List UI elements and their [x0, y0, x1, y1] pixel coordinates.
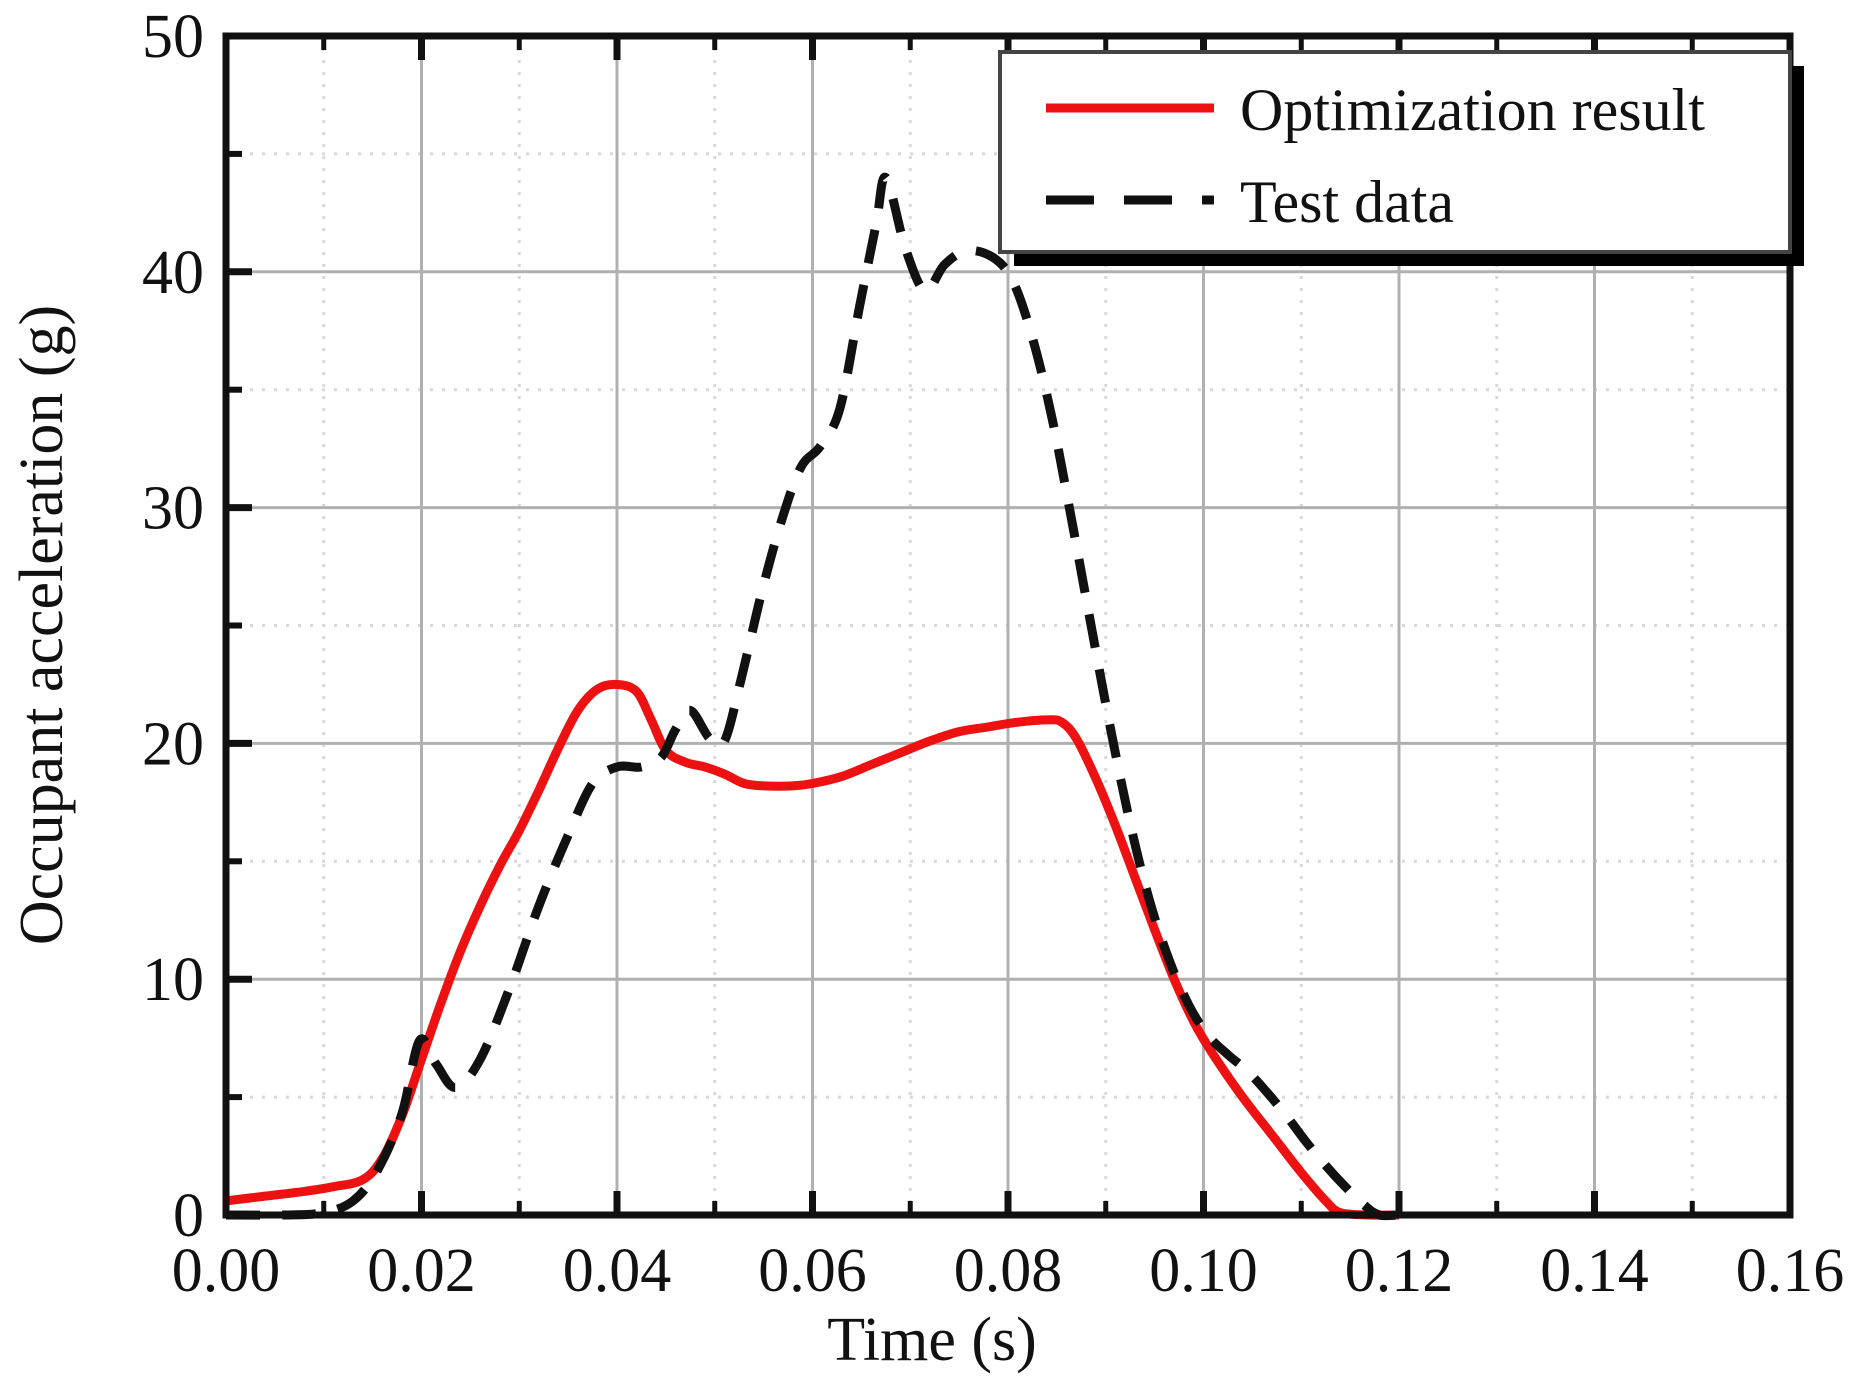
- y-axis-title: Occupant acceleration (g): [8, 305, 76, 945]
- x-tick-label: 0.14: [1540, 1237, 1649, 1305]
- chart-page: 0.000.020.040.060.080.100.120.140.16 010…: [0, 0, 1864, 1397]
- occupant-acceleration-chart: 0.000.020.040.060.080.100.120.140.16 010…: [0, 0, 1864, 1397]
- y-tick-label: 10: [142, 946, 204, 1014]
- y-tick-label: 20: [142, 710, 204, 778]
- x-tick-label: 0.04: [563, 1237, 672, 1305]
- chart-legend[interactable]: Optimization resultTest data: [1000, 52, 1804, 266]
- x-tick-label: 0.06: [758, 1237, 867, 1305]
- x-axis-title: Time (s): [827, 1306, 1037, 1374]
- x-tick-label: 0.12: [1345, 1237, 1454, 1305]
- x-tick-label: 0.08: [954, 1237, 1063, 1305]
- y-tick-label: 30: [142, 475, 204, 543]
- x-tick-label: 0.16: [1736, 1237, 1845, 1305]
- y-tick-label: 40: [142, 239, 204, 307]
- x-tick-label: 0.10: [1149, 1237, 1258, 1305]
- legend-label-1: Optimization result: [1240, 77, 1705, 143]
- legend-label-2: Test data: [1240, 169, 1454, 235]
- x-axis-tick-labels: 0.000.020.040.060.080.100.120.140.16: [172, 1237, 1845, 1305]
- x-tick-label: 0.02: [367, 1237, 476, 1305]
- y-tick-label: 50: [142, 3, 204, 71]
- y-tick-label: 0: [173, 1182, 204, 1250]
